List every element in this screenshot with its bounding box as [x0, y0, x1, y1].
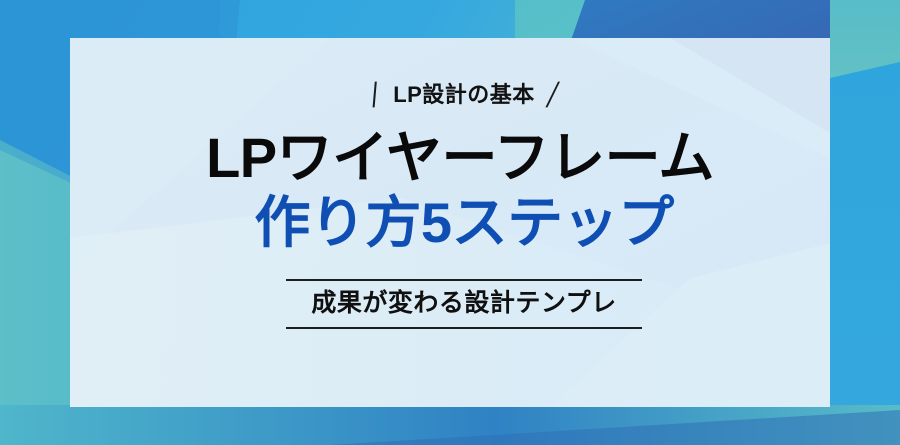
banner-canvas: \ LP設計の基本 / LPワイヤーフレーム 作り方5ステップ 成果が変わる設計…: [0, 0, 900, 445]
subtitle-label: 成果が変わる設計テンプレ: [286, 290, 642, 318]
headline-secondary: 作り方5ステップ: [254, 193, 673, 252]
eyebrow: \ LP設計の基本 /: [371, 82, 556, 108]
content-stack: \ LP設計の基本 / LPワイヤーフレーム 作り方5ステップ 成果が変わる設計…: [70, 38, 830, 407]
content-card: \ LP設計の基本 / LPワイヤーフレーム 作り方5ステップ 成果が変わる設計…: [70, 38, 830, 407]
headline-primary: LPワイヤーフレーム: [206, 128, 714, 187]
eyebrow-label: LP設計の基本: [393, 84, 535, 106]
subtitle-rules: 成果が変わる設計テンプレ: [286, 279, 642, 330]
slash-left-icon: \: [366, 77, 384, 112]
slash-right-icon: /: [544, 77, 562, 112]
